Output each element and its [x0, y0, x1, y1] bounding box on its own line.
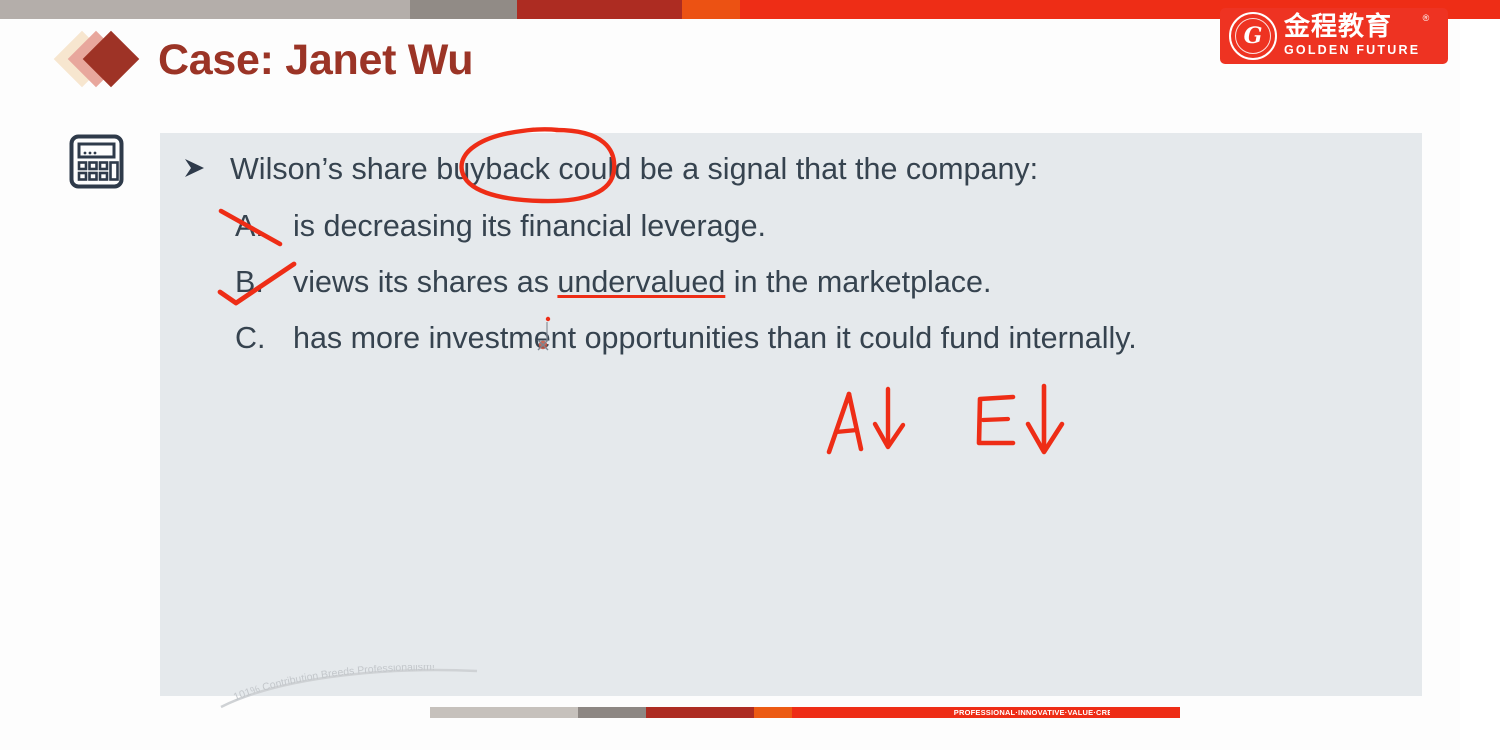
- footer-bar-segment-2: [578, 707, 646, 718]
- option-b-underlined-word: undervalued: [557, 265, 725, 299]
- title-diamond-cluster: [62, 30, 140, 88]
- footer-bar-segment-1: [430, 707, 578, 718]
- footer-tagline: PROFESSIONAL·INNOVATIVE·VALUE·CREATING: [980, 707, 1110, 718]
- option-b-letter: B.: [235, 264, 293, 301]
- slide-root: G 金程教育 ® GOLDEN FUTURE Case: Janet Wu: [0, 0, 1500, 750]
- option-a-text: is decreasing its financial leverage.: [293, 209, 766, 243]
- option-b[interactable]: B.views its shares as undervalued in the…: [235, 264, 991, 301]
- footer-watermark: 101% Contribution Breeds Professionalism…: [215, 665, 515, 710]
- calculator-icon: [68, 133, 125, 190]
- footer-color-bar: PROFESSIONAL·INNOVATIVE·VALUE·CREATING: [430, 707, 1180, 718]
- footer-watermark-text: 101% Contribution Breeds Professionalism…: [232, 665, 435, 703]
- question-stem-circled-word: buyback: [436, 152, 550, 186]
- top-band-segment-2: [410, 0, 517, 19]
- right-margin-strip: [1460, 19, 1500, 750]
- footer-bar-segment-7: [1110, 707, 1180, 718]
- question-stem: Wilson’s share buyback could be a signal…: [230, 151, 1038, 188]
- brand-name-cn: 金程教育: [1284, 14, 1420, 41]
- top-band-segment-3: [517, 0, 682, 19]
- option-c[interactable]: C.has more investment opportunities than…: [235, 320, 1137, 357]
- option-b-text-after: in the marketplace.: [725, 265, 991, 299]
- option-a-letter: A.: [235, 208, 293, 245]
- option-b-text-before: views its shares as: [293, 265, 557, 299]
- option-c-text: has more investment opportunities than i…: [293, 321, 1137, 355]
- question-stem-after: could be a signal that the company:: [550, 152, 1038, 186]
- top-band-segment-1: [0, 0, 410, 19]
- footer-bar-segment-3: [646, 707, 754, 718]
- brand-seal-letter: G: [1244, 25, 1263, 47]
- brand-text-block: 金程教育 ® GOLDEN FUTURE: [1284, 14, 1420, 59]
- svg-text:101% Contribution Breeds Profe: 101% Contribution Breeds Professionalism…: [232, 665, 435, 703]
- option-a[interactable]: A.is decreasing its financial leverage.: [235, 208, 766, 245]
- footer-bar-segment-4: [754, 707, 792, 718]
- brand-name-en: GOLDEN FUTURE: [1284, 42, 1420, 58]
- arrow-bullet-icon: [182, 155, 208, 181]
- page-title: Case: Janet Wu: [158, 36, 473, 85]
- footer-bar-segment-5: [792, 707, 980, 718]
- question-panel: Wilson’s share buyback could be a signal…: [160, 133, 1422, 696]
- registered-mark-icon: ®: [1423, 13, 1430, 23]
- question-stem-before: Wilson’s share: [230, 152, 436, 186]
- option-c-letter: C.: [235, 320, 293, 357]
- brand-seal-icon: G: [1229, 12, 1277, 60]
- brand-logo: G 金程教育 ® GOLDEN FUTURE: [1220, 8, 1448, 64]
- top-band-segment-4: [682, 0, 740, 19]
